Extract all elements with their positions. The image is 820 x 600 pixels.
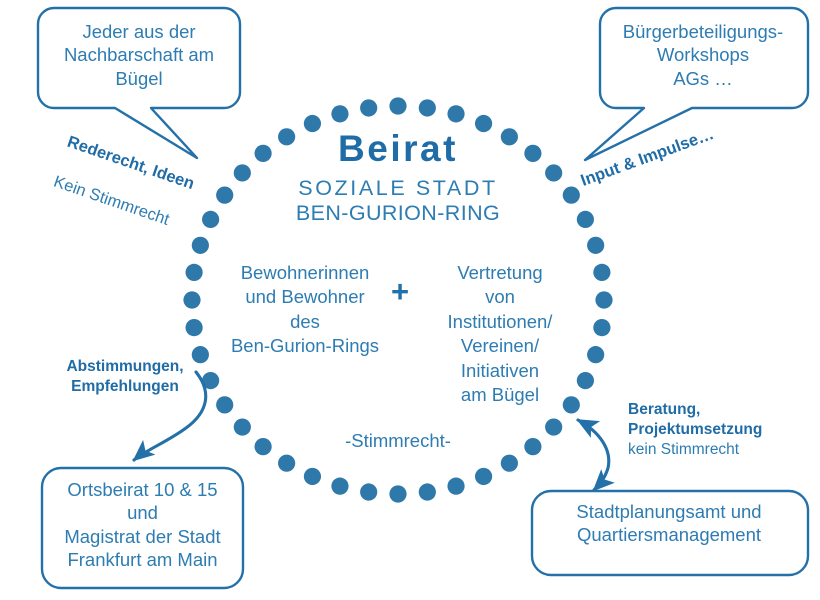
ring-dot — [389, 485, 406, 502]
ring-dot — [419, 483, 436, 500]
center-subtitle-1: SOZIALE STADT — [248, 176, 548, 201]
ring-dot — [447, 105, 464, 122]
ring-dot — [331, 105, 348, 122]
connector-label-beratung-regular: kein Stimmrecht — [628, 440, 808, 460]
ring-dot — [186, 264, 203, 281]
ring-dot — [360, 483, 377, 500]
page-title: Beirat — [248, 130, 548, 169]
ring-dot — [278, 455, 295, 472]
center-subtitle-2: BEN-GURION-RING — [248, 201, 548, 226]
ring-dot — [389, 97, 406, 114]
arrow-beratung-bidirectional — [578, 420, 609, 490]
ring-dot — [595, 291, 612, 308]
ring-dot — [304, 468, 321, 485]
ring-dot — [331, 478, 348, 495]
bubble-top-left-text: Jeder aus der Nachbarschaft am Bügel — [44, 20, 234, 90]
ring-dot — [545, 418, 562, 435]
ring-dot — [577, 211, 594, 228]
plus-icon: + — [382, 276, 418, 307]
center-title-block: Beirat SOZIALE STADT BEN-GURION-RING — [248, 130, 548, 225]
center-column-left: Bewohnerinnen und Bewohner des Ben-Gurio… — [215, 261, 395, 359]
ring-dot — [593, 319, 610, 336]
ring-dot — [183, 291, 200, 308]
ring-dot — [186, 319, 203, 336]
box-bottom-right-text: Stadtplanungsamt und Quartiersmanagement — [536, 500, 802, 547]
ring-dot — [447, 478, 464, 495]
center-footnote-stimmrecht: -Stimmrecht- — [298, 430, 498, 452]
ring-dot — [563, 187, 580, 204]
ring-dot — [475, 468, 492, 485]
ring-dot — [593, 264, 610, 281]
ring-dot — [216, 396, 233, 413]
ring-dot — [501, 455, 518, 472]
box-bottom-left-text: Ortsbeirat 10 & 15 und Magistrat der Sta… — [46, 478, 239, 571]
ring-dot — [419, 99, 436, 116]
ring-dot — [255, 438, 272, 455]
ring-dot — [360, 99, 377, 116]
connector-label-abstimmungen: Abstimmungen, Empfehlungen — [40, 357, 210, 398]
diagram-canvas: Jeder aus der Nachbarschaft am Bügel Bür… — [0, 0, 820, 600]
ring-dot — [587, 346, 604, 363]
ring-dot — [234, 418, 251, 435]
ring-dot — [524, 438, 541, 455]
bubble-top-right-text: Bürgerbeteiligungs- Workshops AGs … — [608, 20, 798, 90]
connector-label-beratung: Beratung, Projektumsetzung kein Stimmrec… — [628, 400, 808, 460]
center-column-right: Vertretung von Institutionen/ Vereinen/ … — [420, 261, 580, 407]
connector-label-beratung-bold: Beratung, Projektumsetzung — [628, 400, 808, 440]
ring-dot — [587, 237, 604, 254]
